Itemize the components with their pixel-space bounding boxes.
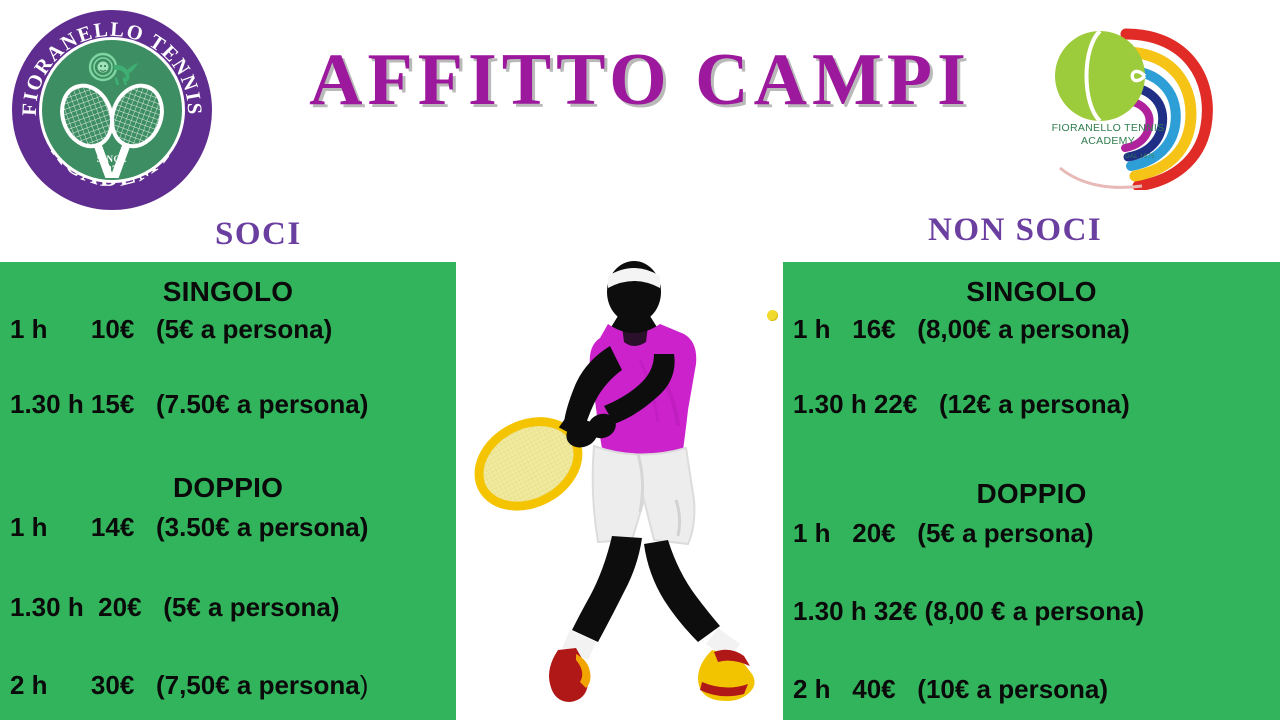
swoosh-logo-line1: FIORANELLO TENNIS [1048,122,1168,134]
price-row: 1.30 h 22€ (12€ a persona) [793,389,1130,420]
column-heading-non-soci: NON SOCI [928,212,1102,249]
price-row: 1 h 10€ (5€ a persona) [10,314,332,345]
price-row: 1 h 14€ (3.50€ a persona) [10,512,368,543]
price-row: 1 h 16€ (8,00€ a persona) [793,314,1130,345]
section-title-doppio-soci: DOPPIO [0,472,456,504]
price-row: 1 h 20€ (5€ a persona) [793,518,1094,549]
column-heading-soci: SOCI [215,216,302,253]
section-title-doppio-non-soci: DOPPIO [783,478,1280,510]
pricing-poster: FIORANELLO TENNIS ACADEMY [0,0,1280,720]
right-shoe [698,650,755,701]
swoosh-logo-line3: DAL 1975 [1100,154,1180,160]
price-row-main: 2 h 30€ (7,50€ a persona [10,670,360,700]
price-row: 1.30 h 32€ (8,00 € a persona) [793,596,1144,627]
section-title-singolo-non-soci: SINGOLO [783,276,1280,308]
price-row: 2 h 30€ (7,50€ a persona) [10,670,368,701]
section-title-singolo-soci: SINGOLO [0,276,456,308]
swoosh-logo-graphic [1042,18,1222,190]
price-row: 2 h 40€ (10€ a persona) [793,674,1108,705]
player-right-leg [644,540,720,642]
price-panel-soci: SINGOLO 1 h 10€ (5€ a persona) 1.30 h 15… [0,262,456,720]
price-row-tail: ) [360,670,369,700]
crest-since-text: SINCE 1975 [97,154,128,174]
player-left-leg [572,536,642,642]
price-row: 1.30 h 15€ (7.50€ a persona) [10,389,368,420]
swoosh-logo-line2: ACADEMY [1048,135,1168,147]
tennis-player-illustration [462,250,784,720]
poster-header: FIORANELLO TENNIS ACADEMY [0,0,1280,210]
price-panel-non-soci: SINGOLO 1 h 16€ (8,00€ a persona) 1.30 h… [783,262,1280,720]
academy-swoosh-logo: FIORANELLO TENNIS ACADEMY DAL 1975 [1042,18,1222,190]
price-row: 1.30 h 20€ (5€ a persona) [10,592,340,623]
